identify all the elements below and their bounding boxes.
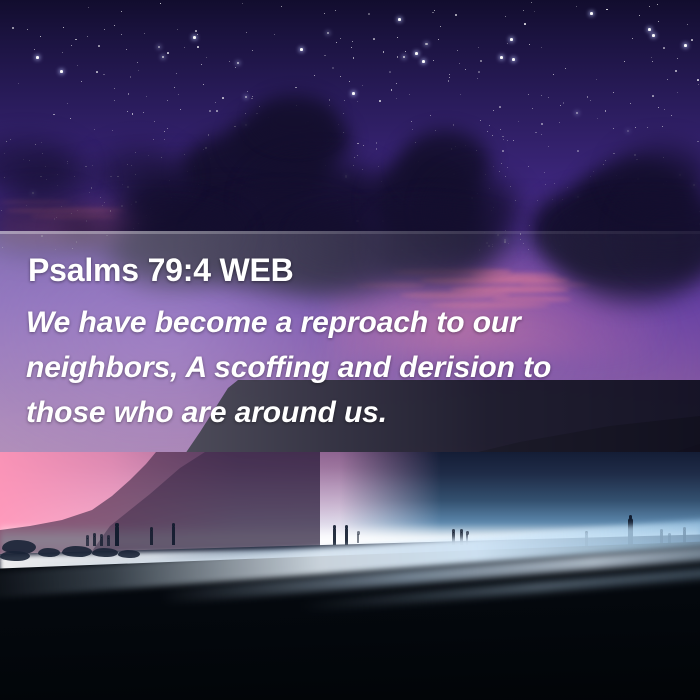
verse-image: Psalms 79:4 WEB We have become a reproac… [0, 0, 700, 700]
verse-line: We have become a reproach to our [26, 300, 682, 345]
verse-reference: Psalms 79:4 WEB [28, 252, 294, 289]
verse-line: those who are around us. [26, 390, 682, 435]
verse-text: We have become a reproach to our neighbo… [26, 300, 682, 435]
beach-scene [0, 452, 700, 700]
verse-line: neighbors, A scoffing and derision to [26, 345, 682, 390]
overlay-top-edge [0, 231, 700, 234]
